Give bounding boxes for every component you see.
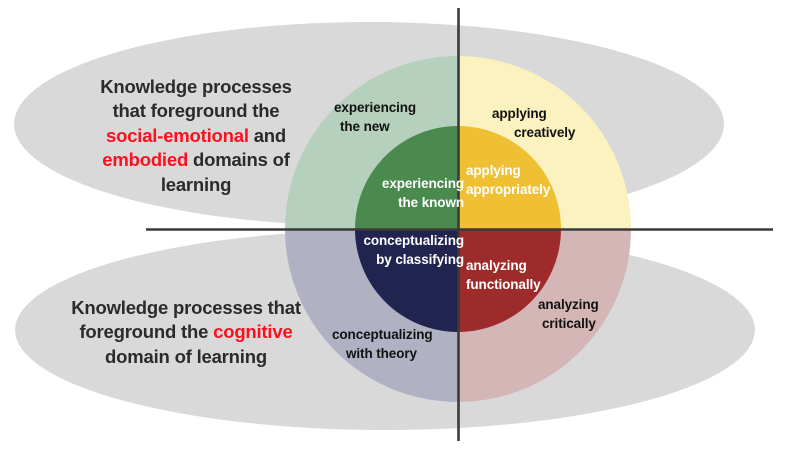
caption-line: domain of learning bbox=[26, 345, 346, 369]
label-conceptualizing-by-classifying: conceptualizing by classifying bbox=[356, 232, 464, 269]
caption-social-emotional-embodied: Knowledge processes that foreground the … bbox=[46, 75, 346, 197]
caption-line: social-emotional and bbox=[46, 124, 346, 148]
label-line-1: applying bbox=[466, 163, 521, 178]
caption-line: embodied domains of bbox=[46, 148, 346, 172]
label-line-2: appropriately bbox=[466, 181, 576, 200]
label-line-1: analyzing bbox=[538, 297, 599, 312]
label-experiencing-the-new: experiencing the new bbox=[334, 99, 444, 136]
label-line-1: conceptualizing bbox=[363, 233, 464, 248]
caption-cognitive-domain: Knowledge processes that foreground the … bbox=[26, 296, 346, 369]
label-line-1: applying bbox=[492, 106, 547, 121]
caption-line: Knowledge processes bbox=[46, 75, 346, 99]
label-conceptualizing-with-theory: conceptualizing with theory bbox=[332, 326, 456, 363]
label-line-2: the known bbox=[360, 194, 464, 213]
label-line-1: experiencing bbox=[382, 176, 464, 191]
label-line-2: critically bbox=[538, 315, 642, 334]
label-line-2: with theory bbox=[332, 345, 456, 364]
label-line-2: the new bbox=[334, 118, 444, 137]
label-line-2: creatively bbox=[492, 124, 622, 143]
label-applying-creatively: applying creatively bbox=[492, 105, 622, 142]
label-line-1: conceptualizing bbox=[332, 327, 433, 342]
diagram-canvas: Knowledge processes that foreground the … bbox=[0, 0, 800, 453]
label-line-1: analyzing bbox=[466, 258, 527, 273]
caption-line: Knowledge processes that bbox=[26, 296, 346, 320]
label-applying-appropriately: applying appropriately bbox=[466, 162, 576, 199]
label-line-2: functionally bbox=[466, 276, 570, 295]
label-line-1: experiencing bbox=[334, 100, 416, 115]
caption-line: foreground the cognitive bbox=[26, 320, 346, 344]
label-experiencing-the-known: experiencing the known bbox=[360, 175, 464, 212]
caption-line: learning bbox=[46, 173, 346, 197]
label-line-2: by classifying bbox=[356, 251, 464, 270]
knowledge-processes-svg bbox=[0, 0, 800, 453]
caption-line: that foreground the bbox=[46, 99, 346, 123]
label-analyzing-critically: analyzing critically bbox=[538, 296, 642, 333]
label-analyzing-functionally: analyzing functionally bbox=[466, 257, 570, 294]
